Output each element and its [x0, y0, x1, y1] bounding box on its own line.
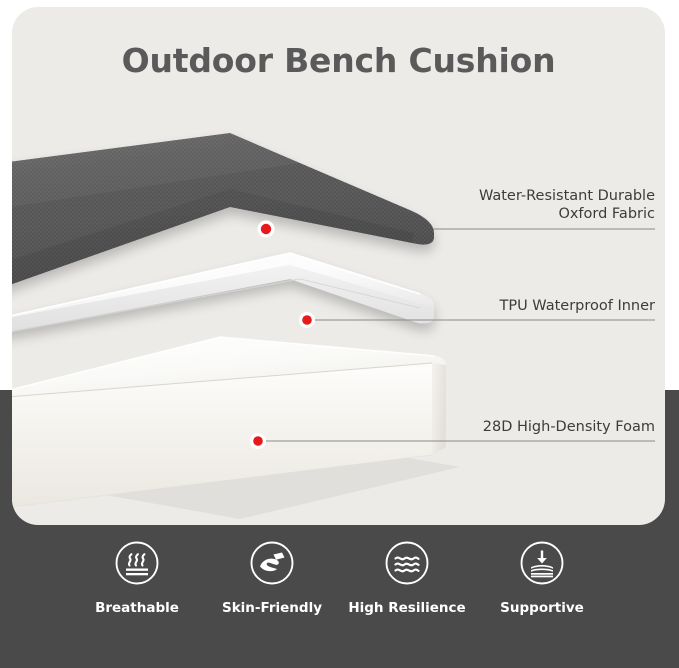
feature-strip: Breathable Skin-Friendly: [0, 540, 679, 650]
exploded-layer-illustration: [12, 7, 665, 525]
callout-tpu-inner: TPU Waterproof Inner: [342, 297, 655, 315]
callout-foam-core: 28D High-Density Foam: [342, 418, 655, 436]
feature-label: Breathable: [95, 600, 179, 616]
feature-label: Supportive: [500, 600, 584, 616]
feature-label: Skin-Friendly: [222, 600, 322, 616]
arrow-onto-layers-icon: [519, 540, 565, 586]
product-card: Outdoor Bench Cushion: [12, 7, 665, 525]
feature-high-resilience: High Resilience: [340, 540, 475, 616]
tpu-inner-layer: [12, 253, 434, 339]
steam-waves-icon: [114, 540, 160, 586]
product-infographic: Outdoor Bench Cushion: [0, 0, 679, 668]
marker-foam-core: [250, 433, 266, 449]
feature-skin-friendly: Skin-Friendly: [205, 540, 340, 616]
marker-oxford-fabric: [258, 221, 275, 238]
wavy-lines-icon: [384, 540, 430, 586]
feature-breathable: Breathable: [70, 540, 205, 616]
marker-tpu-inner: [299, 312, 315, 328]
callout-oxford-fabric: Water-Resistant Durable Oxford Fabric: [342, 187, 655, 223]
feature-label: High Resilience: [348, 600, 465, 616]
feature-supportive: Supportive: [475, 540, 610, 616]
hand-fabric-icon: [249, 540, 295, 586]
